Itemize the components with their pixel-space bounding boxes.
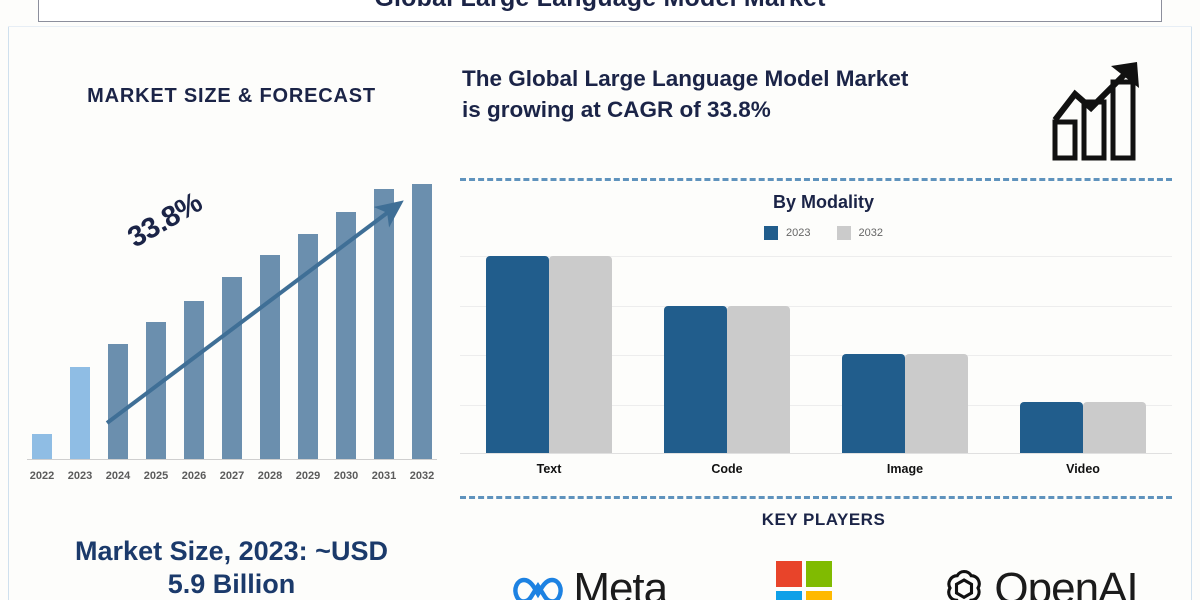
page-border-top: [8, 26, 1192, 27]
modality-group-text: [460, 242, 638, 453]
forecast-year-label: 2031: [369, 470, 399, 482]
forecast-year-label: 2022: [27, 470, 57, 482]
modality-group-video: [994, 242, 1172, 453]
forecast-bar-rect: [298, 234, 318, 459]
modality-bar-image-2023: [842, 354, 905, 453]
forecast-bar-chart: 2022202320242025202620272028202920302031…: [21, 170, 441, 518]
cagr-statement: The Global Large Language Model Market i…: [462, 64, 1032, 125]
legend-item-2023[interactable]: 2023: [764, 226, 810, 240]
modality-bar-text-2023: [486, 256, 549, 453]
forecast-year-label: 2029: [293, 470, 323, 482]
market-detail-panel: The Global Large Language Model Market i…: [455, 30, 1192, 600]
divider-bottom: [460, 496, 1172, 499]
forecast-bar-rect: [222, 277, 242, 459]
legend-swatch: [837, 226, 851, 240]
modality-bar-groups: [460, 242, 1172, 453]
forecast-year-label: 2023: [65, 470, 95, 482]
market-size-forecast-panel: MARKET SIZE & FORECAST 20222023202420252…: [9, 30, 454, 600]
microsoft-square-red: [776, 561, 802, 587]
key-players-logos: Meta OpenAI: [455, 548, 1192, 600]
forecast-bar-rect: [32, 434, 52, 459]
market-size-value: Market Size, 2023: ~USD 5.9 Billion: [9, 535, 454, 600]
divider-top: [460, 178, 1172, 181]
forecast-bar-rect: [336, 212, 356, 459]
forecast-bar-2029: [293, 169, 323, 459]
forecast-bar-2030: [331, 169, 361, 459]
legend-label: 2032: [859, 227, 883, 239]
logo-meta[interactable]: Meta: [509, 564, 667, 600]
title-bar: Global Large Language Model Market: [38, 0, 1162, 22]
modality-chart-title: By Modality: [455, 192, 1192, 213]
meta-wordmark: Meta: [573, 564, 667, 600]
modality-group-image: [816, 242, 994, 453]
forecast-bar-2023: [65, 169, 95, 459]
forecast-axis-line: [27, 459, 437, 460]
page-title: Global Large Language Model Market: [374, 0, 825, 13]
modality-baseline: [460, 453, 1172, 454]
forecast-bar-2022: [27, 169, 57, 459]
modality-label-video: Video: [994, 462, 1172, 476]
infographic-page: Global Large Language Model Market MARKE…: [0, 0, 1200, 600]
logo-microsoft[interactable]: [776, 561, 832, 600]
openai-wordmark: OpenAI: [994, 564, 1137, 600]
forecast-year-label: 2024: [103, 470, 133, 482]
forecast-bars-container: [27, 169, 437, 459]
microsoft-square-blue: [776, 591, 802, 600]
modality-label-code: Code: [638, 462, 816, 476]
forecast-year-labels: 2022202320242025202620272028202920302031…: [27, 470, 437, 482]
forecast-bar-rect: [260, 255, 280, 459]
forecast-bar-2028: [255, 169, 285, 459]
forecast-year-label: 2027: [217, 470, 247, 482]
logo-openai[interactable]: OpenAI: [940, 564, 1137, 600]
forecast-bar-rect: [108, 344, 128, 459]
modality-group-code: [638, 242, 816, 453]
legend-swatch: [764, 226, 778, 240]
modality-bar-code-2032: [727, 306, 790, 453]
key-players-title: KEY PLAYERS: [455, 510, 1192, 530]
forecast-bar-2027: [217, 169, 247, 459]
forecast-year-label: 2032: [407, 470, 437, 482]
legend-label: 2023: [786, 227, 810, 239]
openai-knot-icon: [940, 565, 988, 600]
market-size-line-1: Market Size, 2023: ~USD: [75, 536, 388, 566]
modality-bar-code-2023: [664, 306, 727, 453]
forecast-bar-rect: [70, 367, 90, 459]
forecast-bar-2024: [103, 169, 133, 459]
modality-bar-chart: [460, 242, 1172, 454]
cagr-statement-line-2: is growing at CAGR of 33.8%: [462, 97, 771, 122]
market-size-forecast-heading: MARKET SIZE & FORECAST: [9, 85, 454, 108]
modality-legend: 20232032: [455, 226, 1192, 240]
forecast-bar-2031: [369, 169, 399, 459]
microsoft-square-green: [806, 561, 832, 587]
modality-bar-video-2023: [1020, 402, 1083, 453]
forecast-year-label: 2026: [179, 470, 209, 482]
cagr-statement-line-1: The Global Large Language Model Market: [462, 66, 908, 91]
legend-item-2032[interactable]: 2032: [837, 226, 883, 240]
forecast-year-label: 2030: [331, 470, 361, 482]
microsoft-squares-icon: [776, 561, 832, 600]
modality-bar-video-2032: [1083, 402, 1146, 453]
modality-bar-text-2032: [549, 256, 612, 453]
bar-chart-arrow-up-icon: [1049, 58, 1149, 163]
forecast-year-label: 2025: [141, 470, 171, 482]
modality-bar-image-2032: [905, 354, 968, 453]
forecast-bar-rect: [412, 184, 432, 459]
forecast-bar-rect: [184, 301, 204, 459]
forecast-year-label: 2028: [255, 470, 285, 482]
forecast-bar-2032: [407, 169, 437, 459]
modality-category-labels: TextCodeImageVideo: [460, 462, 1172, 476]
modality-label-image: Image: [816, 462, 994, 476]
microsoft-square-yellow: [806, 591, 832, 600]
modality-label-text: Text: [460, 462, 638, 476]
meta-infinity-icon: [509, 569, 567, 600]
market-size-line-2: 5.9 Billion: [168, 569, 296, 599]
forecast-bar-rect: [374, 189, 394, 459]
forecast-bar-rect: [146, 322, 166, 459]
